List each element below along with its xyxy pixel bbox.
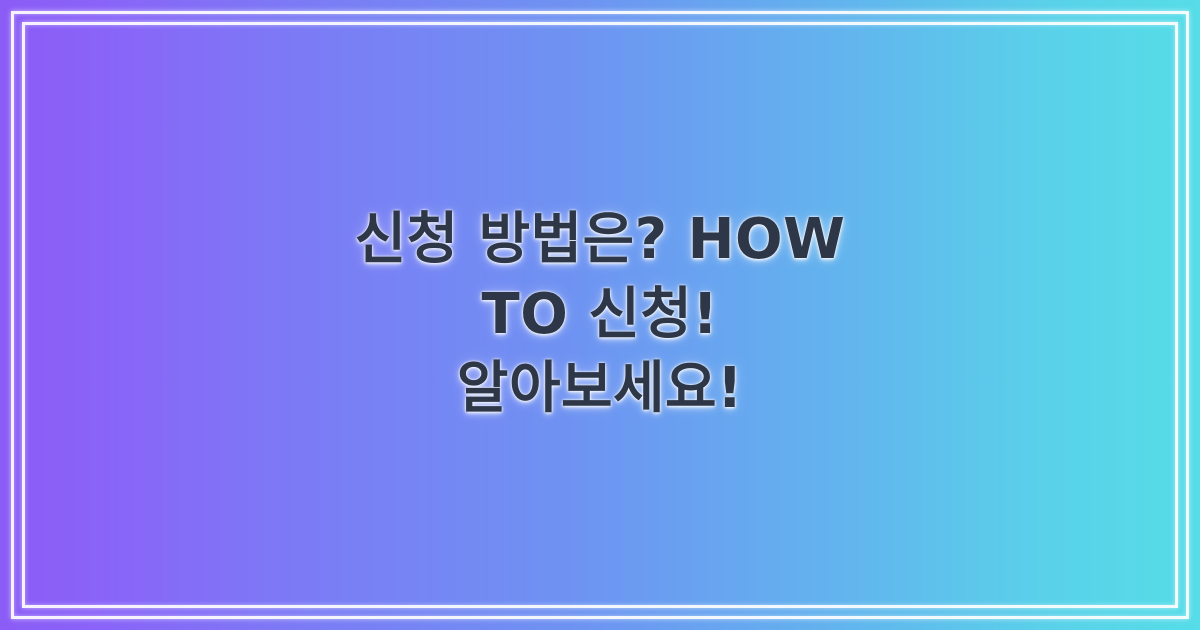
headline-line-2: TO 신청! bbox=[355, 278, 846, 352]
thumbnail-canvas: 신청 방법은? HOW TO 신청! 알아보세요! bbox=[0, 0, 1200, 630]
page-title: 신청 방법은? HOW TO 신청! 알아보세요! bbox=[355, 203, 846, 426]
headline-block: 신청 방법은? HOW TO 신청! 알아보세요! bbox=[0, 0, 1200, 630]
headline-line-1: 신청 방법은? HOW bbox=[355, 203, 846, 277]
headline-line-3: 알아보세요! bbox=[355, 352, 846, 426]
